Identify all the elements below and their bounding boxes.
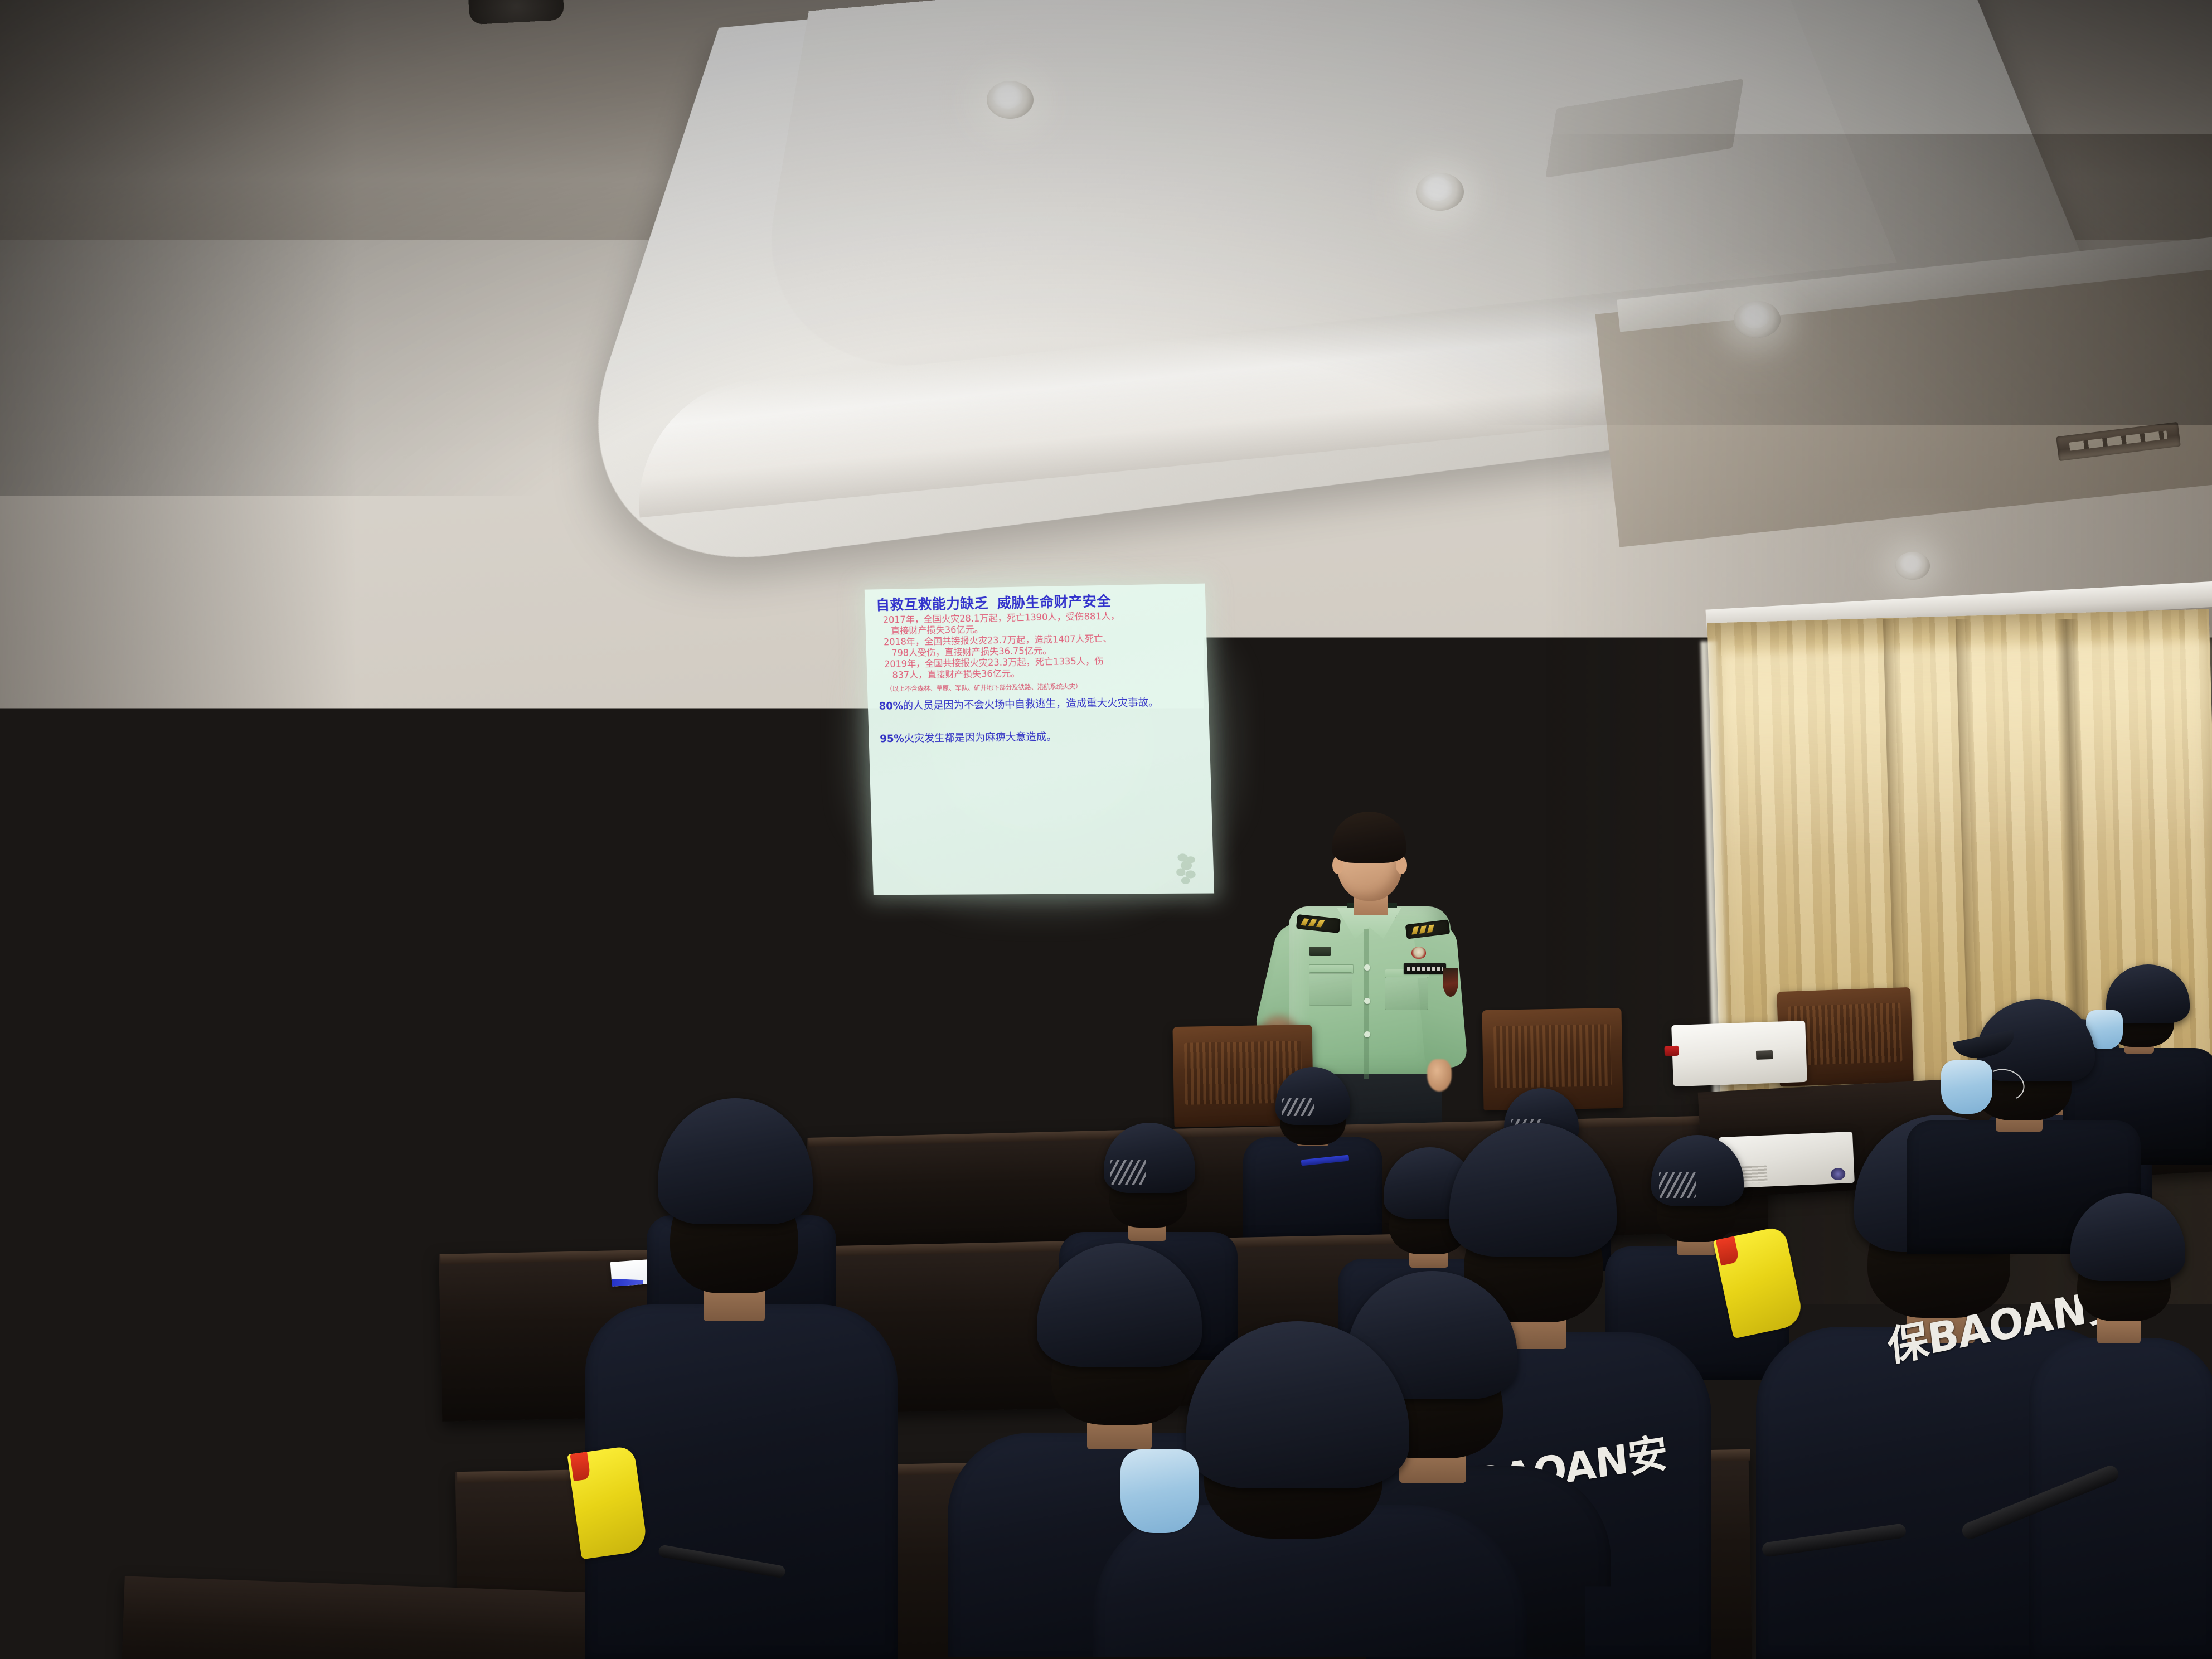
slide-highlight-80: 80%的人员是因为不会火场中自救逃生，造成重大火灾事故。 <box>879 697 1200 714</box>
presenter-hair <box>1332 812 1406 863</box>
conference-room-photo: 自救互救能力缺乏威胁生命财产安全 2017年，全国火灾28.1万起，死亡1390… <box>0 0 2212 1659</box>
projector-carry-case[interactable] <box>1671 1021 1807 1086</box>
presenter-chest-emblem <box>1411 947 1426 959</box>
presenter-chest-pocket <box>1309 972 1352 1006</box>
stat-row-2019: 2019年，全国共接报火灾23.3万起，死亡1335人，伤 837人，直接财产损… <box>877 654 1199 682</box>
presenter-arm-patch <box>1443 968 1458 997</box>
highlight-95-text: 火灾发生都是因为麻痹大意造成。 <box>904 731 1057 744</box>
guard-cap <box>658 1098 813 1224</box>
presenter-wing-badge <box>1309 947 1331 956</box>
slide-statistics: 2017年，全国火灾28.1万起，死亡1390人，受伤881人， 直接财产损失3… <box>876 609 1199 682</box>
slide-footnote: （以上不含森林、草原、军队、矿井地下部分及铁路、港航系统火灾） <box>878 681 1199 693</box>
slide-title-part2: 威胁生命财产安全 <box>997 593 1112 612</box>
case-handle <box>1664 1046 1679 1056</box>
projected-slide: 自救互救能力缺乏威胁生命财产安全 2017年，全国火灾28.1万起，死亡1390… <box>865 584 1214 895</box>
presenter-name-badge <box>1404 963 1446 974</box>
ceiling-downlight-icon <box>1416 173 1464 211</box>
wall-shadow-left <box>0 0 357 1282</box>
presenter-right-hand <box>1427 1059 1452 1092</box>
cap-silver-trim <box>1110 1160 1146 1185</box>
audience-foreground-guard <box>1093 1338 1527 1659</box>
leaf-watermark-icon <box>1171 851 1201 886</box>
presenter-chest-pocket <box>1385 977 1428 1010</box>
guard-cap <box>2070 1193 2185 1281</box>
presenter-shirt-placket <box>1364 929 1369 1079</box>
face-mask <box>1120 1449 1199 1533</box>
case-latch <box>1756 1050 1773 1060</box>
audience-front-left-civilian <box>33 1187 524 1659</box>
face-mask <box>1941 1060 1992 1114</box>
slide-title-part1: 自救互救能力缺乏 <box>876 595 989 613</box>
slide-highlight-95: 95%火灾发生都是因为麻痹大意造成。 <box>880 729 1201 745</box>
guard-cap <box>1449 1123 1617 1257</box>
cap-silver-trim <box>1282 1098 1314 1116</box>
ceiling-downlight-icon <box>987 81 1034 119</box>
audience-guard-right-front <box>2029 1148 2212 1659</box>
highlight-80-percent: 80% <box>879 701 903 712</box>
guard-cap <box>1186 1321 1409 1488</box>
audience-guard-row3-left <box>585 1065 898 1659</box>
highlight-80-text: 的人员是因为不会火场中自救逃生，造成重大火灾事故。 <box>903 697 1159 712</box>
highlight-95-percent: 95% <box>880 733 904 745</box>
